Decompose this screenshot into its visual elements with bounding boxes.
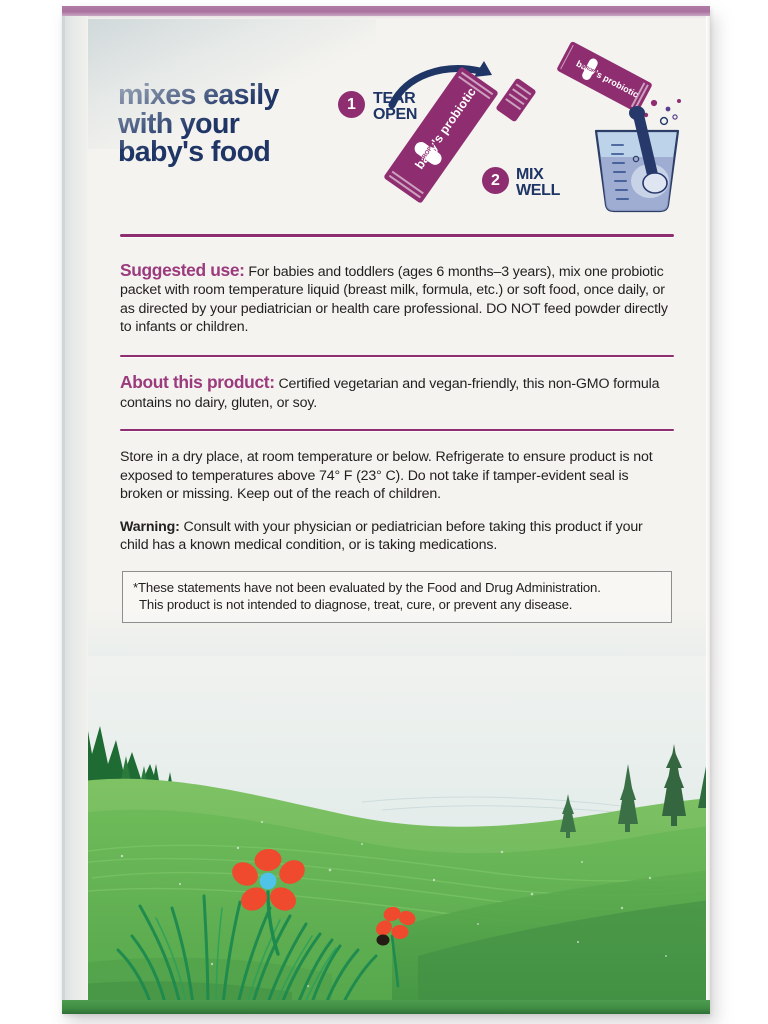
step-2-label: MIX WELL <box>516 167 560 198</box>
step-1-label-line-1: TEAR <box>373 91 417 107</box>
about-product-paragraph: About this product: Certified vegetarian… <box>120 373 674 412</box>
panel-content: mixes easily with your baby's food baby'… <box>88 19 706 1014</box>
box-right-edge-line <box>706 16 710 1014</box>
screenshot-canvas: mixes easily with your baby's food baby'… <box>0 0 768 1024</box>
label-text-area: Suggested use: For babies and toddlers (… <box>88 234 706 623</box>
warning-paragraph: Warning: Consult with your physician or … <box>120 518 674 555</box>
box-bottom-edge <box>62 1000 710 1014</box>
suggested-use-heading: Suggested use: <box>120 260 245 280</box>
fda-disclaimer-line-2: This product is not intended to diagnose… <box>133 596 661 613</box>
step-1-label: TEAR OPEN <box>373 91 417 122</box>
step-2-badge: 2 <box>482 167 509 194</box>
torn-packet-top-graphic <box>495 78 536 123</box>
section-warning: Warning: Consult with your physician or … <box>120 504 674 555</box>
warning-heading: Warning: <box>120 519 180 535</box>
step-2-label-line-1: MIX <box>516 167 560 183</box>
step-2-number: 2 <box>491 172 500 189</box>
product-box-back-panel: mixes easily with your baby's food baby'… <box>62 6 710 1014</box>
step-2-label-line-2: WELL <box>516 183 560 199</box>
section-storage-info: Store in a dry place, at room temperatur… <box>120 431 674 504</box>
box-left-side-panel <box>62 16 88 1014</box>
step-1-label-line-2: OPEN <box>373 107 417 123</box>
pouring-packet-pill-text: DROPS <box>578 60 603 79</box>
box-top-edge <box>62 6 710 16</box>
section-suggested-use: Suggested use: For babies and toddlers (… <box>120 237 674 355</box>
storage-body: Store in a dry place, at room temperatur… <box>120 448 674 504</box>
warning-body: Consult with your physician or pediatric… <box>120 519 643 554</box>
packet-pill-badge: DROPS <box>412 140 444 168</box>
suggested-use-paragraph: Suggested use: For babies and toddlers (… <box>120 261 674 337</box>
box-left-edge-line <box>62 16 65 1014</box>
fda-disclaimer-box: *These statements have not been evaluate… <box>122 571 672 623</box>
about-product-heading: About this product: <box>120 372 275 392</box>
mixing-cup-icon <box>578 97 698 217</box>
packet-pill-text: DROPS <box>414 137 442 169</box>
pouring-packet-pill-badge: DROPS <box>581 57 600 82</box>
section-about-product: About this product: Certified vegetarian… <box>120 357 674 428</box>
fda-disclaimer-line-1: *These statements have not been evaluate… <box>133 579 661 596</box>
box-top-left-shading <box>76 19 376 149</box>
